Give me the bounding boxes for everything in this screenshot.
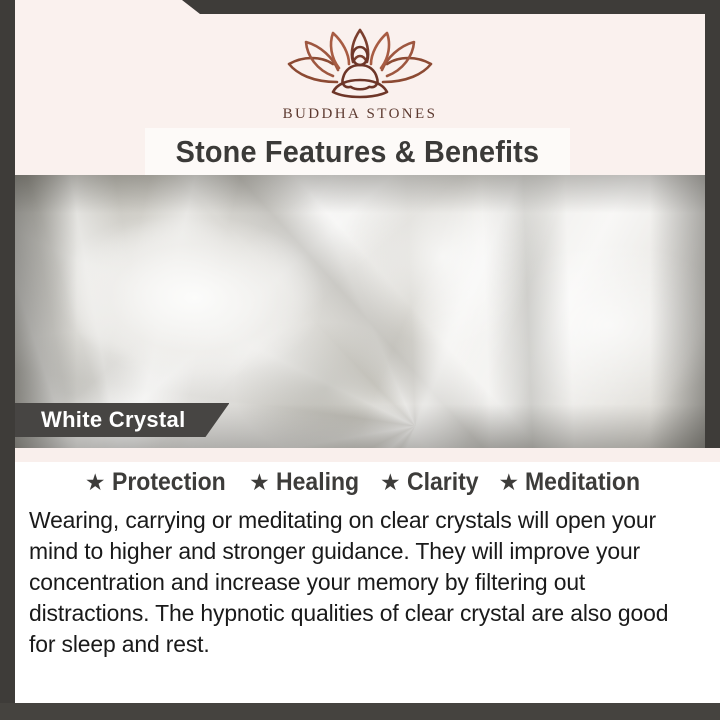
benefits-row: ★ Protection ★ Healing ★ Clarity ★ Medit… <box>15 462 720 499</box>
frame-left-bar <box>0 0 15 703</box>
page-title: Stone Features & Benefits <box>176 134 540 170</box>
benefit-item-meditation: ★ Meditation <box>498 468 650 497</box>
brand-logo: BUDDHA STONES <box>15 24 705 123</box>
benefit-label: Protection <box>112 468 226 497</box>
stone-description: Wearing, carrying or meditating on clear… <box>29 505 681 660</box>
stone-name-label: White Crystal <box>41 407 185 433</box>
frame-right-bar <box>705 0 720 455</box>
frame-top-bar <box>200 0 720 14</box>
benefit-label: Meditation <box>525 468 640 497</box>
divider-strip <box>15 448 720 462</box>
star-icon: ★ <box>380 471 401 494</box>
stone-name-banner: White Crystal <box>15 403 229 437</box>
benefit-label: Clarity <box>407 468 479 497</box>
frame-top-notch <box>182 0 200 14</box>
benefit-item-clarity: ★ Clarity <box>380 468 484 497</box>
lotus-meditation-figure-icon <box>275 24 445 102</box>
title-banner: Stone Features & Benefits <box>145 128 570 175</box>
card-content: ★ Protection ★ Healing ★ Clarity ★ Medit… <box>15 462 720 703</box>
brand-name: BUDDHA STONES <box>283 106 438 123</box>
product-infographic-card: BUDDHA STONES Stone Features & Benefits … <box>0 0 720 720</box>
benefit-item-healing: ★ Healing <box>249 468 366 497</box>
benefit-label: Healing <box>276 468 359 497</box>
star-icon: ★ <box>249 471 270 494</box>
star-icon: ★ <box>498 471 519 494</box>
frame-bottom-bar <box>0 703 720 720</box>
star-icon: ★ <box>85 471 106 494</box>
benefit-item-protection: ★ Protection <box>85 468 235 497</box>
